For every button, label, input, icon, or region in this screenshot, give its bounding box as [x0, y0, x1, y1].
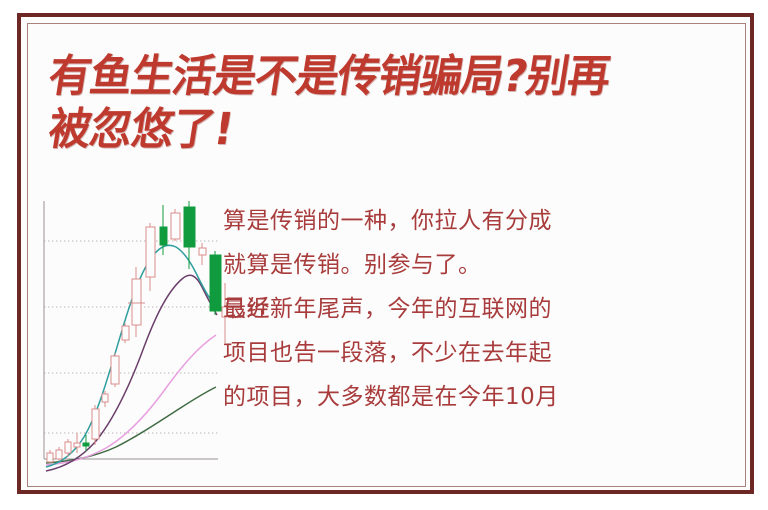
- body-line-3: 最近新年尾声，今年的互联网的: [223, 296, 552, 322]
- candle-15: [210, 251, 221, 315]
- body-line-1: 算是传销的一种，你拉人有分成: [223, 199, 683, 243]
- candle-13: [184, 201, 195, 269]
- candle-12: [171, 209, 180, 241]
- candlestick-chart-svg: [32, 195, 227, 480]
- headline-line-1: 有鱼生活是不是传销骗局?别再: [45, 50, 716, 103]
- ma-line-fast: [46, 245, 216, 467]
- candle-7: [111, 353, 119, 387]
- candle-10: [146, 223, 155, 291]
- candle-1: [56, 447, 62, 461]
- poster-content: 有鱼生活是不是传销骗局?别再 被忽悠了!: [27, 23, 746, 487]
- page-title: 有鱼生活是不是传销骗局?别再 被忽悠了!: [49, 50, 739, 156]
- chart-gridlines: [44, 241, 218, 433]
- body-line-3-wrapper: 已经 最近新年尾声，今年的互联网的: [223, 287, 683, 331]
- candle-14: [199, 243, 206, 265]
- candlestick-chart: [32, 195, 227, 480]
- body-line-3-overlap: 已经: [223, 287, 270, 331]
- body-line-2: 就算是传销。别参与了。: [223, 243, 683, 287]
- poster-canvas: 有鱼生活是不是传销骗局?别再 被忽悠了!: [0, 0, 768, 510]
- body-text: 算是传销的一种，你拉人有分成 就算是传销。别参与了。 已经 最近新年尾声，今年的…: [223, 199, 683, 419]
- candle-5: [92, 405, 99, 445]
- body-line-5: 的项目，大多数都是在今年10月: [223, 375, 683, 419]
- candle-8: [122, 323, 129, 343]
- candle-0: [47, 450, 53, 463]
- headline-line-2: 被忽悠了!: [45, 103, 716, 156]
- body-line-4: 项目也告一段落，不少在去年起: [223, 331, 683, 375]
